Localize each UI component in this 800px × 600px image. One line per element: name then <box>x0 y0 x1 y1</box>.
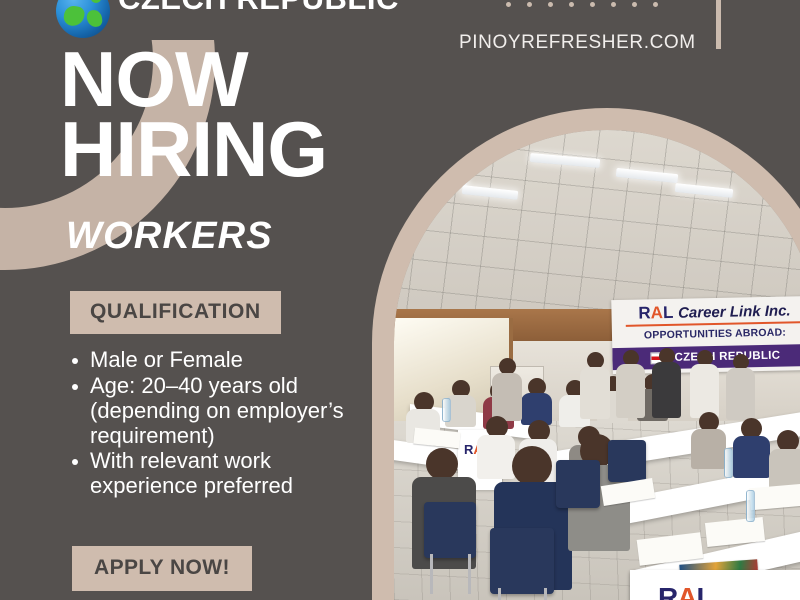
ral-logo-a: A <box>677 582 696 600</box>
ral-logo-l: L <box>696 582 712 600</box>
chair <box>490 528 554 594</box>
headline-line-2: HIRING <box>60 114 327 186</box>
ral-logo-suffix: Career Link Inc. <box>678 302 791 321</box>
country-heading: CZECH REPUBLIC <box>118 0 399 17</box>
website-url: PINOYREFRESHER.COM <box>459 32 696 54</box>
water-bottle <box>746 490 755 522</box>
banner-country-label: CZECH REPUBLIC <box>674 350 780 364</box>
qualification-badge: QUALIFICATION <box>70 291 281 334</box>
table-skirt-front <box>630 570 800 600</box>
chair <box>556 460 600 508</box>
page-title: NOW HIRING <box>60 44 327 186</box>
ral-logo-r: R <box>464 442 473 457</box>
form-paper <box>749 484 800 511</box>
water-bottle <box>442 398 451 422</box>
ral-table-sign: RAL <box>658 582 713 600</box>
globe-icon <box>56 0 110 38</box>
ral-logo-r: R <box>658 582 677 600</box>
list-item: Age: 20–40 years old (depending on emplo… <box>68 374 368 449</box>
seminar-room-photo: RAL Career Link Inc. OPPORTUNITIES ABROA… <box>394 130 800 600</box>
list-item: With relevant work experience preferred <box>68 449 368 499</box>
ceiling <box>394 130 800 318</box>
ral-logo-l: L <box>663 303 674 322</box>
banner-subtitle: OPPORTUNITIES ABROAD: <box>612 326 800 342</box>
dot-row-decoration <box>506 2 658 7</box>
ral-logo-r: R <box>638 303 651 322</box>
chair <box>424 502 476 558</box>
water-bottle <box>724 448 733 478</box>
ral-logo: RAL Career Link Inc. <box>611 300 800 324</box>
job-poster: CZECH REPUBLIC PINOYREFRESHER.COM NOW HI… <box>0 0 800 600</box>
ral-logo-a: A <box>650 303 663 322</box>
apply-now-button[interactable]: APPLY NOW! <box>72 546 252 591</box>
list-item: Male or Female <box>68 348 368 373</box>
photo-arch-frame: RAL Career Link Inc. OPPORTUNITIES ABROA… <box>372 108 800 600</box>
vertical-line-decoration <box>716 0 721 49</box>
qualification-list: Male or Female Age: 20–40 years old (dep… <box>68 348 368 500</box>
chair <box>608 440 646 482</box>
headline-subtitle: WORKERS <box>66 215 273 258</box>
